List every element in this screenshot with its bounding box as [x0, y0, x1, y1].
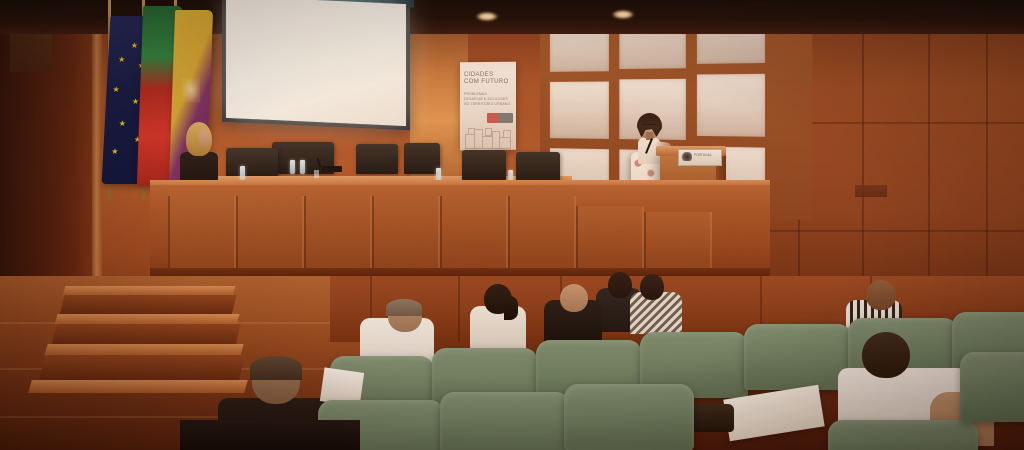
- stage-panel: [236, 196, 304, 268]
- stage-panel: [440, 196, 508, 268]
- panel-chair[interactable]: [356, 144, 398, 174]
- microphone[interactable]: [322, 166, 342, 172]
- audience-hair: [386, 299, 422, 316]
- auditorium-seat[interactable]: [440, 392, 570, 450]
- water-bottle[interactable]: [240, 166, 245, 180]
- stage-panel: [508, 196, 576, 268]
- banner-subtext: PROBLEMAS DESAFIOS E SOLUCOES NO TERRITO…: [464, 92, 512, 107]
- audience-head: [862, 332, 910, 378]
- audience-head: [866, 280, 896, 310]
- foreground-shadow: [180, 420, 360, 450]
- auditorium-photograph: ★ ★ ★ ★ ★ ★ ★ ★ CIDADES COM FUTURO PROBL…: [0, 0, 1024, 450]
- stage-panel: [372, 196, 440, 268]
- auditorium-seat[interactable]: [564, 384, 694, 450]
- banner-logo: [487, 113, 513, 123]
- wall-vent: [855, 185, 887, 197]
- panel-chair[interactable]: [516, 152, 560, 182]
- audience-head: [608, 272, 632, 298]
- banner-headline-line2: COM FUTURO: [464, 79, 514, 86]
- pillar-edge: [92, 0, 102, 300]
- audience-head: [640, 274, 664, 300]
- audience-head: [560, 284, 588, 312]
- panel-chair[interactable]: [462, 150, 506, 180]
- stage-panel: [576, 206, 644, 268]
- stage-panel: [168, 196, 236, 268]
- audience-hair: [250, 356, 302, 380]
- panel-chair[interactable]: [404, 143, 440, 174]
- stage-panel: [644, 212, 712, 270]
- panel-chair[interactable]: [226, 148, 278, 178]
- podium-plaque-text: PORTUGAL: [694, 153, 718, 157]
- audience-hair: [504, 296, 518, 320]
- banner-cityscape-illustration: [463, 126, 513, 148]
- water-bottle[interactable]: [290, 160, 295, 174]
- projection-screen: [226, 0, 406, 126]
- banner-headline: CIDADES COM FUTURO: [464, 72, 514, 86]
- water-bottle[interactable]: [300, 160, 305, 174]
- banner-headline-line1: CIDADES: [464, 72, 514, 79]
- auditorium-seat[interactable]: [828, 420, 978, 450]
- drinking-glass[interactable]: [314, 170, 319, 178]
- auditorium-seat[interactable]: [744, 324, 852, 390]
- speaker-glasses-icon: [642, 124, 656, 129]
- podium-emblem-icon: [681, 152, 692, 161]
- stage-panel: [304, 196, 372, 268]
- seated-panelist-face: [198, 130, 211, 146]
- auditorium-seat[interactable]: [960, 352, 1024, 422]
- municipal-crest-icon: [182, 78, 200, 102]
